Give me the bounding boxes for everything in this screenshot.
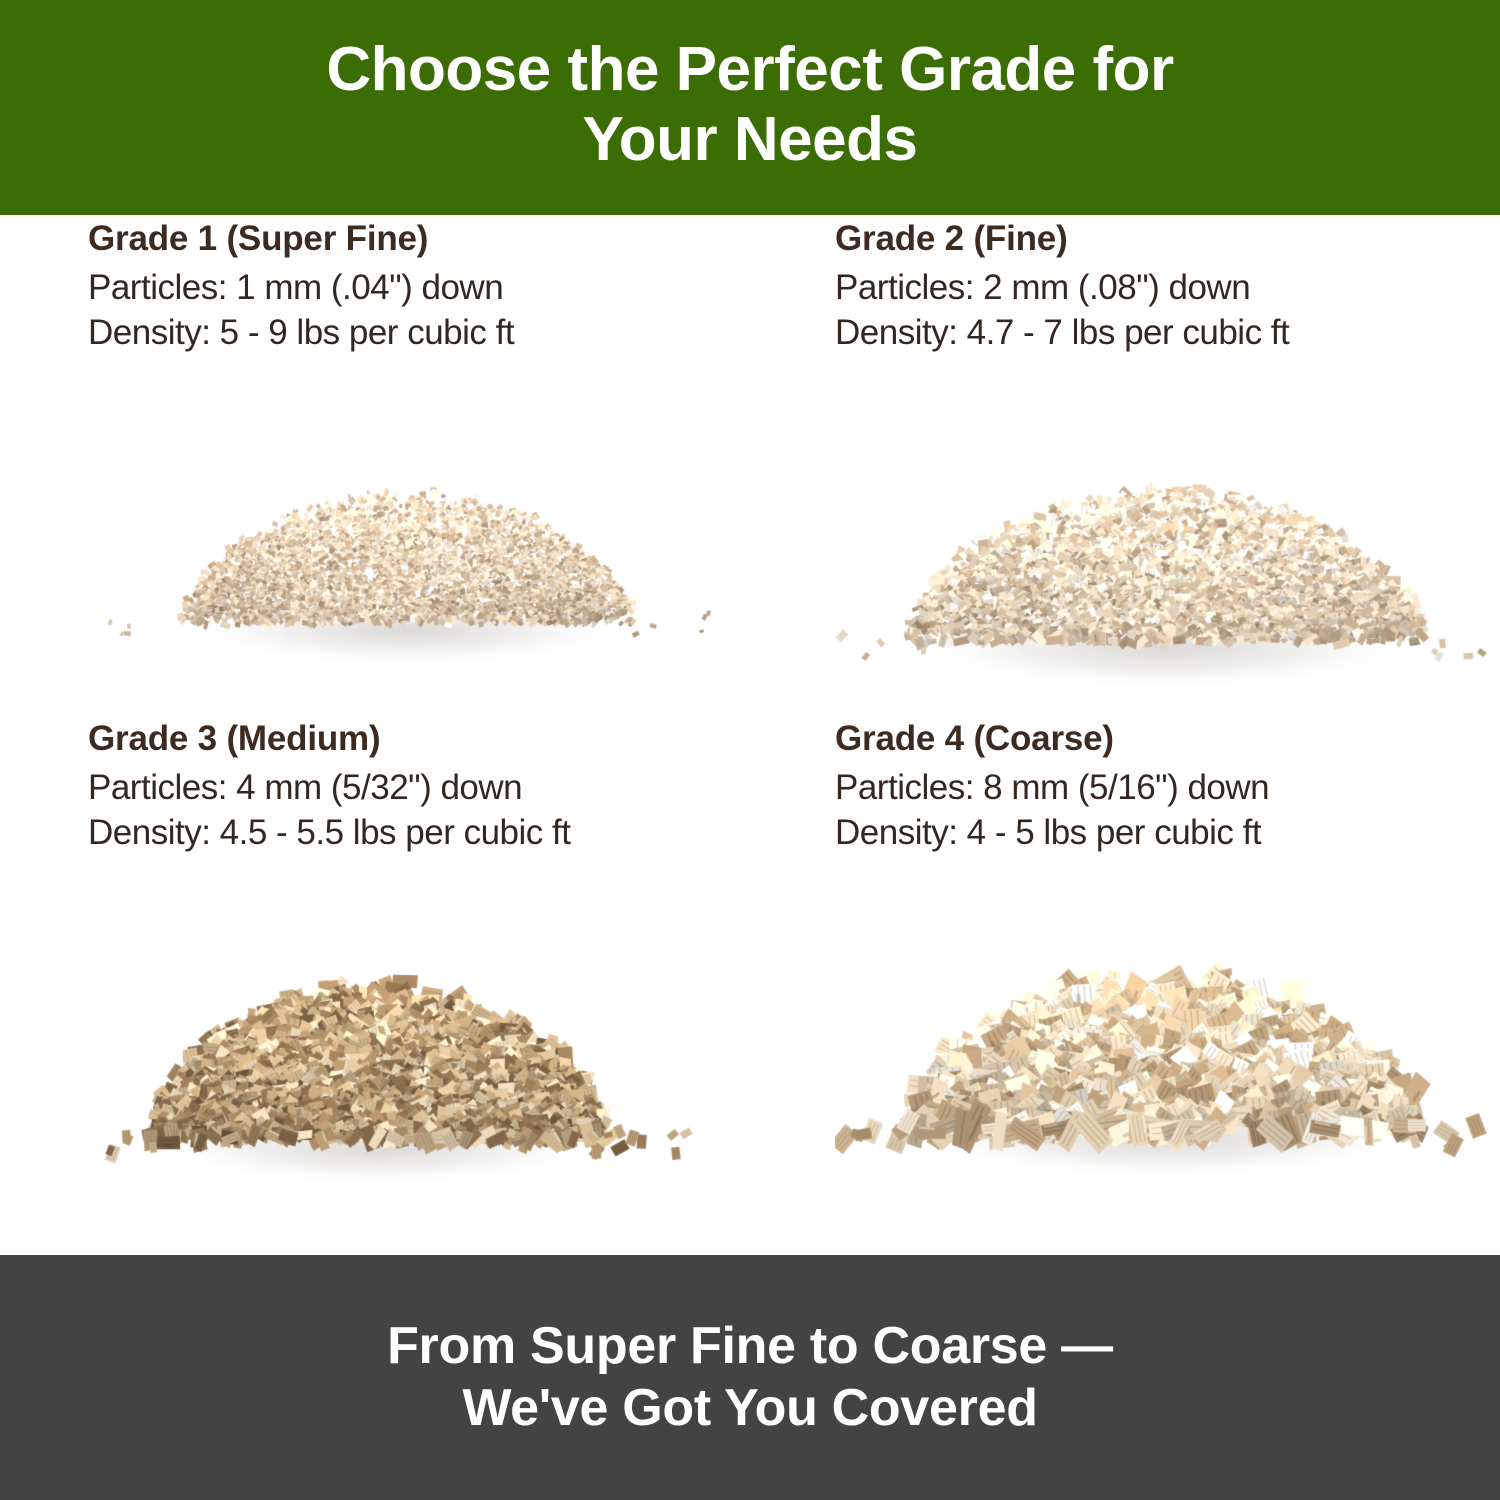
grade-card-3-image: [88, 871, 748, 1201]
coarse-vermiculite-pile-canvas: [835, 871, 1495, 1201]
grade-card-2-image: [835, 371, 1495, 701]
grade-card-2: Grade 2 (Fine) Particles: 2 mm (.08") do…: [835, 221, 1495, 731]
super-fine-vermiculite-pile-canvas: [88, 371, 748, 701]
grade-card-3-particles: Particles: 4 mm (5/32") down: [88, 765, 748, 810]
grade-card-2-density: Density: 4.7 - 7 lbs per cubic ft: [835, 310, 1495, 355]
header-banner: Choose the Perfect Grade for Your Needs: [0, 0, 1500, 215]
fine-vermiculite-pile-canvas: [835, 371, 1495, 701]
grade-card-4-image: [835, 871, 1495, 1201]
grade-card-1-image: [88, 371, 748, 701]
grade-card-4-particles: Particles: 8 mm (5/16") down: [835, 765, 1495, 810]
footer-banner: From Super Fine to Coarse — We've Got Yo…: [0, 1255, 1500, 1500]
grade-card-2-title: Grade 2 (Fine): [835, 221, 1495, 256]
grade-card-3: Grade 3 (Medium) Particles: 4 mm (5/32")…: [88, 721, 748, 1231]
grade-card-2-particles: Particles: 2 mm (.08") down: [835, 265, 1495, 310]
footer-tagline-line-1: From Super Fine to Coarse —: [387, 1316, 1113, 1377]
medium-vermiculite-pile-canvas: [88, 871, 748, 1201]
grade-card-1-title: Grade 1 (Super Fine): [88, 221, 748, 256]
grade-card-1: Grade 1 (Super Fine) Particles: 1 mm (.0…: [88, 221, 748, 731]
grade-card-3-title: Grade 3 (Medium): [88, 721, 748, 756]
grade-card-4-title: Grade 4 (Coarse): [835, 721, 1495, 756]
grade-card-4-density: Density: 4 - 5 lbs per cubic ft: [835, 810, 1495, 855]
grade-card-3-density: Density: 4.5 - 5.5 lbs per cubic ft: [88, 810, 748, 855]
footer-tagline-line-2: We've Got You Covered: [462, 1378, 1037, 1439]
header-title-line-2: Your Needs: [583, 105, 918, 174]
header-title-line-1: Choose the Perfect Grade for: [326, 35, 1173, 104]
grade-card-1-density: Density: 5 - 9 lbs per cubic ft: [88, 310, 748, 355]
grade-card-1-particles: Particles: 1 mm (.04") down: [88, 265, 748, 310]
grade-card-4: Grade 4 (Coarse) Particles: 8 mm (5/16")…: [835, 721, 1495, 1231]
grade-grid: Grade 1 (Super Fine) Particles: 1 mm (.0…: [0, 215, 1500, 1255]
